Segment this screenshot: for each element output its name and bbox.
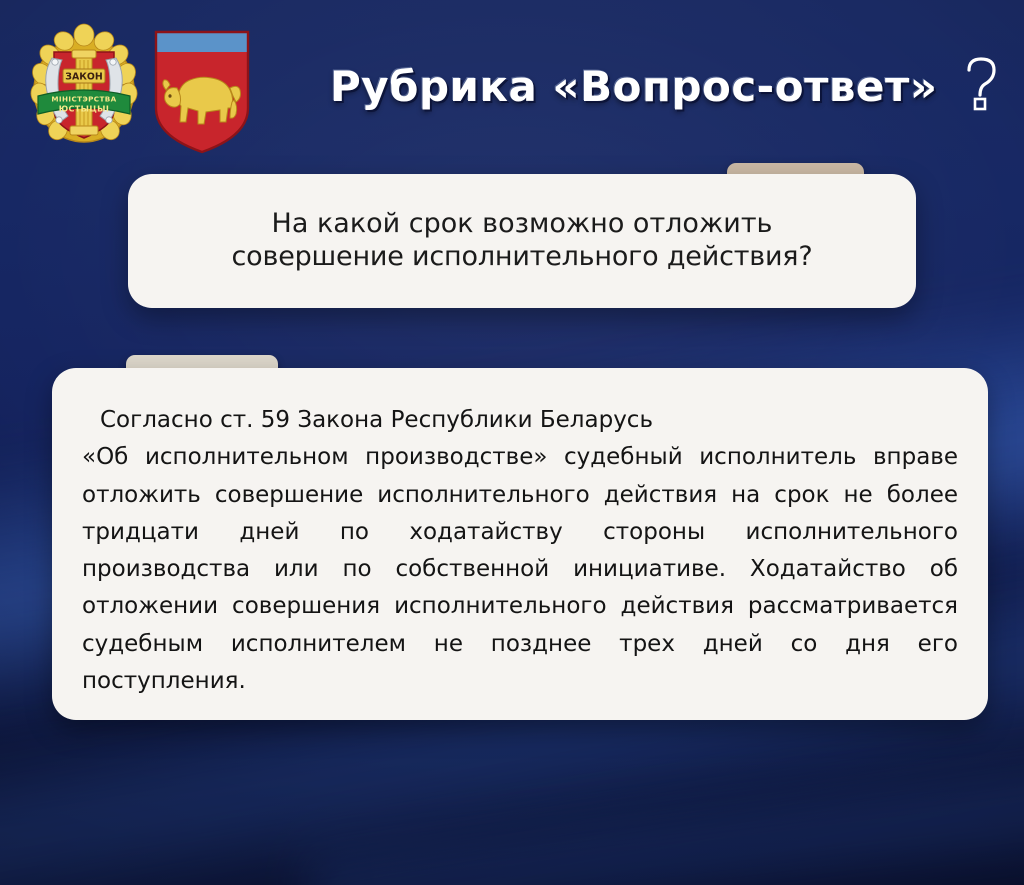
question-card: На какой срок возможно отложить совершен… — [128, 174, 916, 308]
brest-coat-of-arms-icon — [150, 22, 254, 156]
svg-text:МІНІСТЭРСТВА: МІНІСТЭРСТВА — [51, 95, 116, 104]
answer-body: «Об исполнительном производстве» судебны… — [82, 439, 958, 700]
page-title-text: Рубрика «Вопрос-ответ» — [330, 62, 937, 111]
header: ЗАКОН МІНІСТЭРСТВА ЮСТЫЦЫІ — [0, 0, 1024, 160]
answer-card: Согласно ст. 59 Закона Республики Белару… — [52, 368, 988, 720]
svg-text:ЗАКОН: ЗАКОН — [65, 72, 102, 83]
question-line-1: На какой срок возможно отложить — [232, 208, 813, 241]
answer-text: Согласно ст. 59 Закона Республики Белару… — [82, 402, 958, 700]
slide-root: ЗАКОН МІНІСТЭРСТВА ЮСТЫЦЫІ — [0, 0, 1024, 885]
emblem-group: ЗАКОН МІНІСТЭРСТВА ЮСТЫЦЫІ — [28, 22, 254, 156]
page-title: Рубрика «Вопрос-ответ» — [330, 60, 1005, 112]
question-text: На какой срок возможно отложить совершен… — [198, 208, 847, 274]
belarus-ministry-of-justice-emblem-icon: ЗАКОН МІНІСТЭРСТВА ЮСТЫЦЫІ — [28, 22, 140, 152]
answer-first-line: Согласно ст. 59 Закона Республики Белару… — [82, 402, 958, 439]
svg-text:ЮСТЫЦЫІ: ЮСТЫЦЫІ — [59, 104, 110, 113]
question-line-2: совершение исполнительного действия? — [232, 241, 813, 274]
question-mark-icon — [959, 54, 1005, 112]
